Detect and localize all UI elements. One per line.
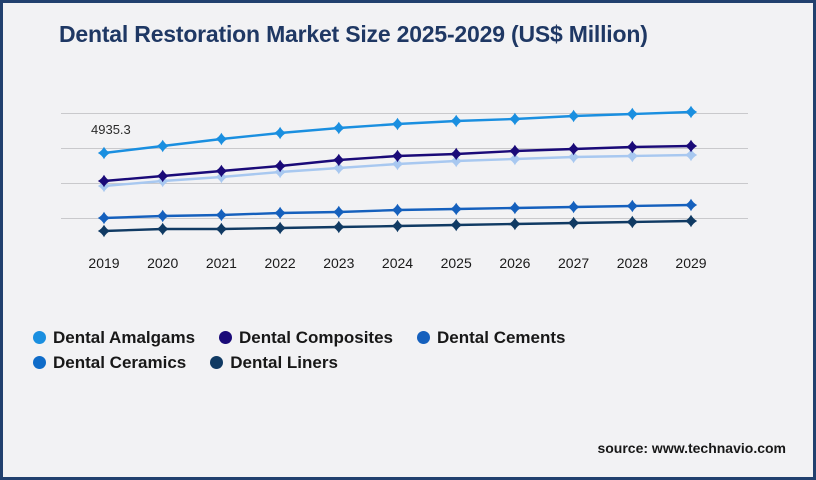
legend-dot-icon [219, 331, 232, 344]
legend-item-label: Dental Amalgams [53, 328, 195, 348]
series-markers [98, 106, 697, 237]
legend-dot-icon [33, 331, 46, 344]
x-axis-tick-label: 2024 [382, 255, 413, 271]
data-point-marker [333, 154, 345, 166]
data-point-marker [391, 204, 403, 216]
data-point-marker [98, 225, 110, 237]
legend-item-label: Dental Liners [230, 353, 338, 373]
data-point-marker [215, 133, 227, 145]
legend-item[interactable]: Dental Liners [210, 353, 338, 373]
data-point-marker [215, 209, 227, 221]
x-axis-tick-label: 2026 [499, 255, 530, 271]
data-point-marker [509, 113, 521, 125]
source-attribution: source: www.technavio.com [597, 440, 786, 456]
legend-dot-icon [210, 356, 223, 369]
data-point-marker [98, 212, 110, 224]
data-point-marker [274, 160, 286, 172]
legend-item[interactable]: Dental Ceramics [33, 353, 186, 373]
data-point-marker [274, 222, 286, 234]
data-point-marker [509, 145, 521, 157]
x-axis-tick-label: 2021 [206, 255, 237, 271]
data-point-marker [567, 143, 579, 155]
data-point-marker [157, 210, 169, 222]
data-point-marker [685, 106, 697, 118]
data-point-marker [391, 118, 403, 130]
chart-svg [3, 3, 816, 480]
legend-item-label: Dental Cements [437, 328, 565, 348]
x-axis-tick-label: 2019 [88, 255, 119, 271]
data-point-marker [157, 223, 169, 235]
x-axis-tick-label: 2020 [147, 255, 178, 271]
data-point-label: 4935.3 [91, 122, 131, 137]
x-axis-tick-label: 2025 [441, 255, 472, 271]
x-axis-tick-label: 2029 [675, 255, 706, 271]
data-point-marker [626, 200, 638, 212]
data-point-marker [333, 122, 345, 134]
plot-area [3, 3, 816, 480]
data-point-marker [450, 219, 462, 231]
chart-frame: Dental Restoration Market Size 2025-2029… [0, 0, 816, 480]
x-axis-tick-label: 2023 [323, 255, 354, 271]
data-point-marker [274, 207, 286, 219]
data-point-marker [391, 150, 403, 162]
data-point-marker [567, 201, 579, 213]
data-point-marker [685, 215, 697, 227]
legend-dot-icon [33, 356, 46, 369]
legend-item[interactable]: Dental Composites [219, 328, 393, 348]
data-point-marker [274, 127, 286, 139]
data-point-marker [626, 108, 638, 120]
data-point-marker [509, 202, 521, 214]
x-axis-tick-label: 2022 [265, 255, 296, 271]
legend-dot-icon [417, 331, 430, 344]
legend-item-label: Dental Composites [239, 328, 393, 348]
data-point-marker [509, 218, 521, 230]
gridlines [61, 114, 748, 219]
data-point-marker [450, 148, 462, 160]
legend-item[interactable]: Dental Amalgams [33, 328, 195, 348]
legend-item-label: Dental Ceramics [53, 353, 186, 373]
data-point-marker [215, 165, 227, 177]
legend-item[interactable]: Dental Cements [417, 328, 565, 348]
data-point-marker [567, 110, 579, 122]
legend-row: Dental AmalgamsDental CompositesDental C… [33, 325, 733, 350]
data-point-marker [685, 199, 697, 211]
data-point-marker [391, 220, 403, 232]
data-point-marker [626, 216, 638, 228]
x-axis-tick-label: 2028 [617, 255, 648, 271]
data-point-marker [157, 140, 169, 152]
data-point-marker [685, 140, 697, 152]
data-point-marker [333, 206, 345, 218]
data-point-marker [626, 141, 638, 153]
data-point-marker [450, 203, 462, 215]
data-point-marker [215, 223, 227, 235]
data-point-marker [333, 221, 345, 233]
chart-legend: Dental AmalgamsDental CompositesDental C… [33, 325, 733, 375]
data-point-marker [450, 115, 462, 127]
legend-row: Dental CeramicsDental Liners [33, 350, 733, 375]
x-axis-tick-label: 2027 [558, 255, 589, 271]
